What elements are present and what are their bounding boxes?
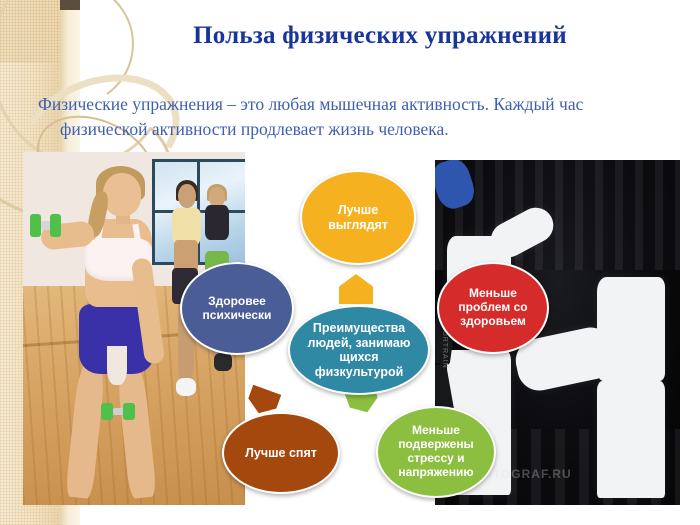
node-label-line-1: Меньше [469, 286, 517, 300]
center-label-line-1: Преимущества [313, 321, 405, 335]
fighter-right-legs [597, 381, 666, 498]
dumbbell-lower-end-a [101, 403, 113, 421]
node-label-line-2: психически [203, 308, 272, 322]
slide: Польза физических упражнений Физические … [0, 0, 700, 525]
background-woman-1-shoe [176, 378, 196, 396]
dumbbell-upper-end-b [50, 214, 61, 237]
woman-head [103, 173, 141, 215]
node-label-line-2: подвержены [398, 437, 474, 451]
node-label-line-2: проблем со [458, 300, 527, 314]
subtitle-line-2: физической активности продлевает жизнь ч… [60, 117, 674, 142]
node-label-line-1: Лучше [338, 203, 378, 217]
page-title: Польза физических упражнений [80, 22, 680, 50]
node-label-line-2: выглядят [328, 218, 388, 232]
diagram-node-less-stress[interactable]: Меньше подвержены стрессу и напряжению [376, 406, 496, 498]
subtitle-text: Физические упражнения – это любая мышечн… [38, 92, 674, 142]
diagram-node-fewer-health-problems[interactable]: Меньше проблем со здоровьем [437, 262, 549, 354]
node-label-line-1: Меньше [412, 423, 460, 437]
node-label-line-3: стрессу и [407, 451, 464, 465]
background-woman-2-shoe [214, 353, 232, 371]
dumbbell-upper-end-a [30, 214, 41, 237]
woman-shorts-gap [107, 346, 127, 385]
arrow-up-icon [339, 274, 373, 304]
diagram-node-center-benefits[interactable]: Преимущества людей, занимаю щихся физкул… [288, 305, 430, 395]
diagram-node-sleep-better[interactable]: Лучше спят [222, 412, 340, 494]
node-label-line-4: напряжению [398, 465, 473, 479]
background-woman-2-top [205, 205, 229, 240]
center-label-line-4: физкультурой [315, 365, 404, 379]
center-label-line-3: щихся [339, 350, 378, 364]
dumbbell-lower-end-b [123, 403, 135, 421]
node-label-line-1: Здоровее [208, 294, 266, 308]
node-label-line-3: здоровьем [460, 314, 526, 328]
subtitle-line-1: Физические упражнения – это любая мышечн… [38, 94, 583, 114]
node-label-line-1: Лучше спят [245, 446, 317, 460]
diagram-node-better-looks[interactable]: Лучше выглядят [300, 170, 416, 265]
center-label-line-2: людей, занимаю [308, 336, 411, 350]
diagram-node-mentally-healthier[interactable]: Здоровее психически [180, 262, 294, 355]
